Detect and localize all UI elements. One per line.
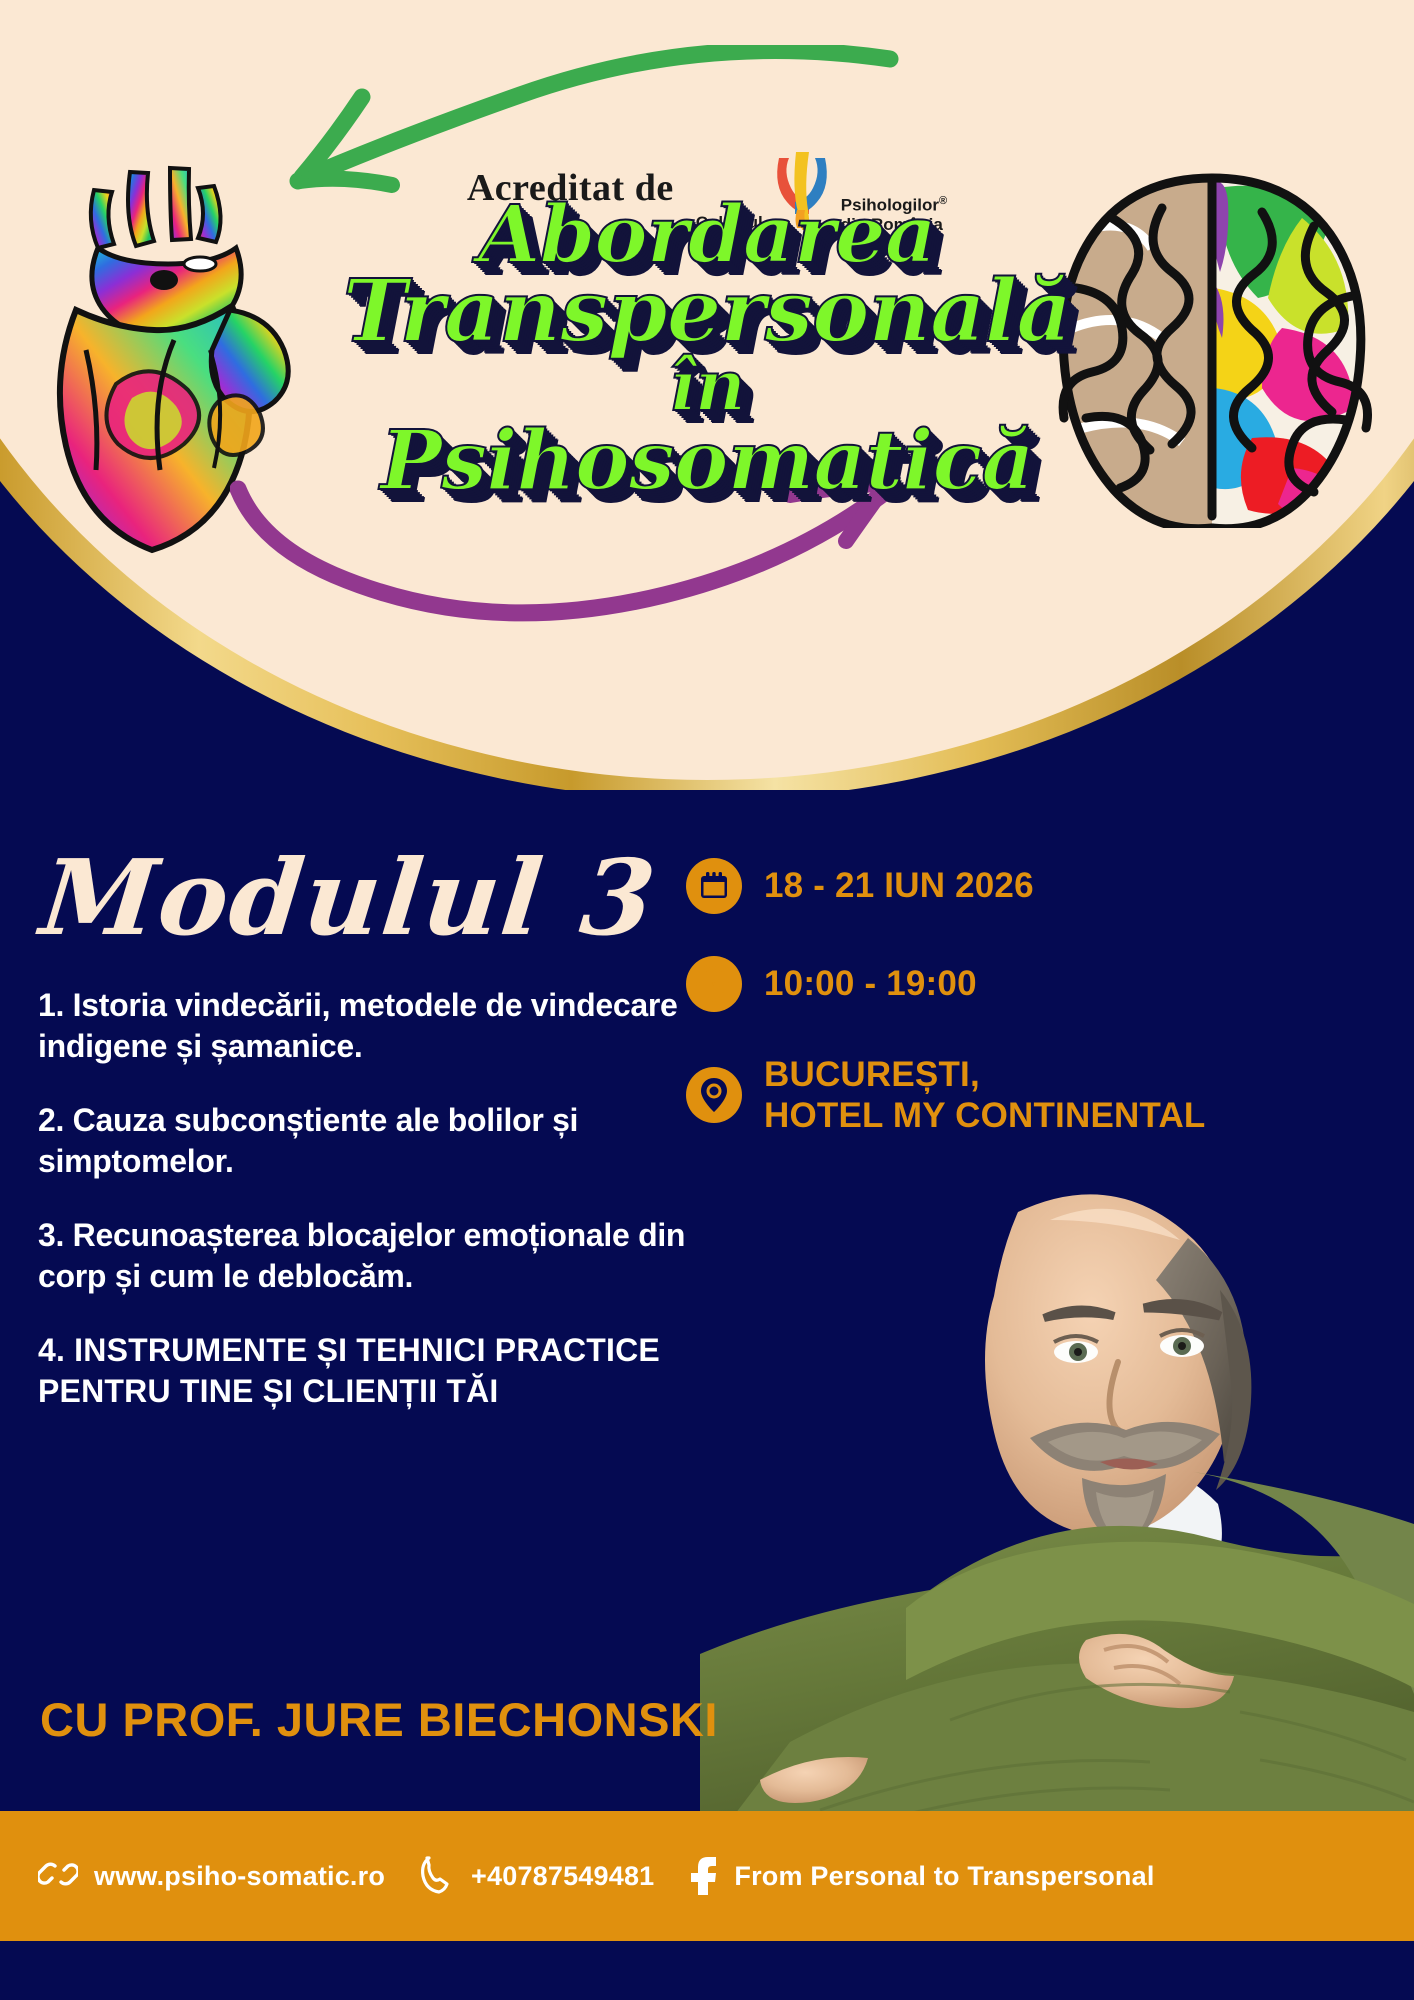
agenda-list: 1. Istoria vindecării, metodele de vinde… [38,985,718,1445]
footer-website-text: www.psiho-somatic.ro [94,1861,385,1892]
accredited-label: Acreditat de [467,166,674,210]
presenter-photo [700,1120,1414,1860]
footer-phone-text: +40787549481 [471,1861,654,1892]
footer-facebook-text: From Personal to Transpersonal [734,1861,1154,1892]
agenda-item-3: 3. Recunoașterea blocajelor emoționale d… [38,1215,718,1297]
module-title: Modulul 3 [36,836,663,959]
facebook-icon [688,1853,718,1900]
event-location-line1: BUCUREȘTI, [764,1055,980,1094]
location-pin-icon [686,1067,742,1123]
agenda-item-1: 1. Istoria vindecării, metodele de vinde… [38,985,718,1067]
contact-footer: www.psiho-somatic.ro +40787549481 From P… [0,1811,1414,1941]
presenter-name: CU PROF. JURE BIECHONSKI [40,1692,718,1747]
colegiul-psihologilor-logo: Colegiul Psihologilor® din România [696,140,947,235]
footer-phone[interactable]: +40787549481 [419,1854,654,1899]
poster-header-panel: Acreditat de Colegiul Psihologilor® din … [0,0,1414,790]
footer-website[interactable]: www.psiho-somatic.ro [38,1854,385,1899]
agenda-item-4: 4. INSTRUMENTE ȘI TEHNICI PRACTICE PENTR… [38,1330,718,1412]
clock-icon [686,956,742,1012]
footer-bottom-bar [0,1941,1414,2000]
calendar-icon [686,858,742,914]
logo-word-left: Colegiul [696,213,763,233]
logo-word-right-line1: Psihologilor® [841,195,947,215]
event-date-value: 18 - 21 IUN 2026 [764,865,1034,906]
logo-word-right-line2: din România [841,215,947,235]
psi-symbol-icon [763,140,841,235]
event-date-row: 18 - 21 IUN 2026 [686,858,1406,914]
agenda-item-2: 2. Cauza subconștiente ale bolilor și si… [38,1100,718,1182]
registered-mark-icon: ® [939,195,947,207]
event-time-value: 10:00 - 19:00 [764,963,977,1004]
event-time-row: 10:00 - 19:00 [686,956,1406,1012]
accreditation-row: Acreditat de Colegiul Psihologilor® din … [0,140,1414,235]
phone-icon [419,1854,455,1899]
purple-brush-arrow-right-icon [230,465,900,625]
footer-facebook[interactable]: From Personal to Transpersonal [688,1853,1154,1900]
link-icon [38,1854,78,1899]
event-poster: Acreditat de Colegiul Psihologilor® din … [0,0,1414,2000]
